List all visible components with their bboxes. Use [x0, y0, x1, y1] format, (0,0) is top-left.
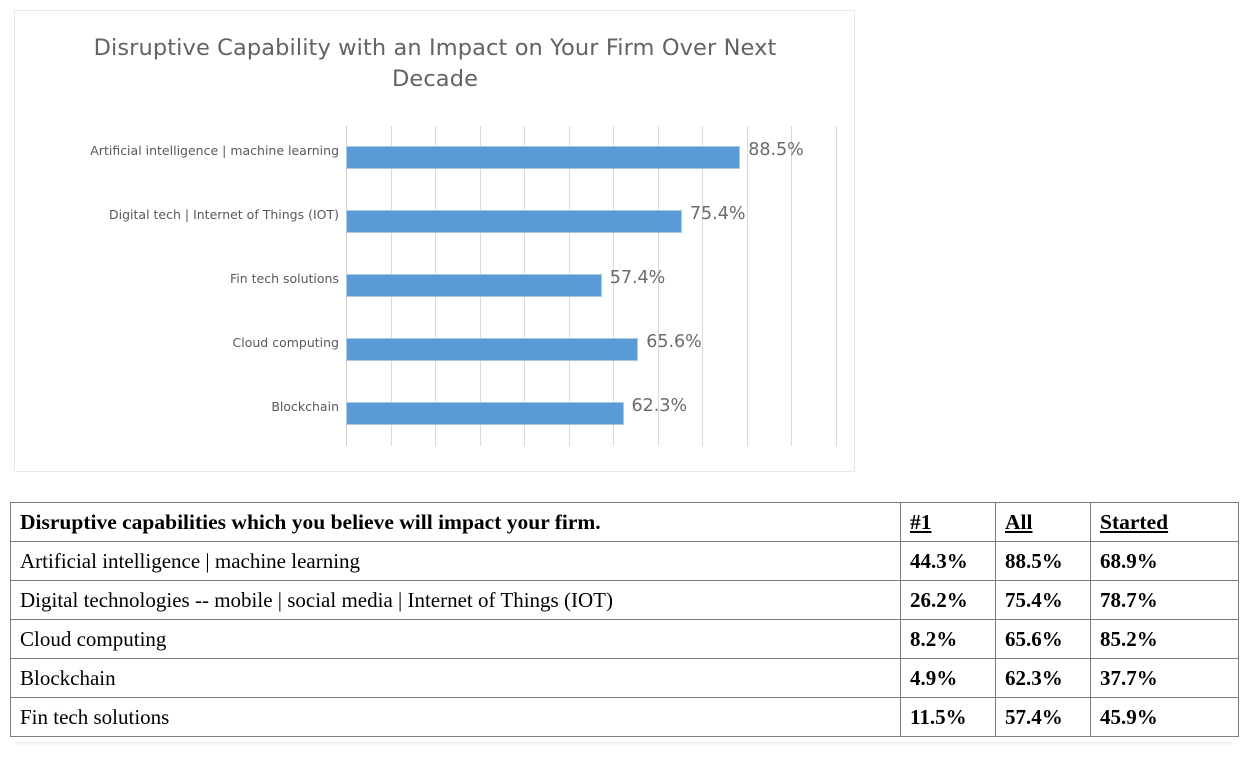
- chart-plot-area: Artificial intelligence | machine learni…: [346, 126, 836, 446]
- chart-card: Disruptive Capability with an Impact on …: [14, 10, 855, 472]
- chart-bar: [346, 338, 638, 361]
- table-row: Artificial intelligence | machine learni…: [11, 542, 1239, 581]
- table-header-row: Disruptive capabilities which you believ…: [11, 503, 1239, 542]
- cell-capability: Cloud computing: [11, 620, 901, 659]
- chart-category-row: Fin tech solutions57.4%: [346, 254, 836, 318]
- chart-category-label: Cloud computing: [233, 335, 339, 350]
- chart-category-label: Digital tech | Internet of Things (IOT): [109, 207, 339, 222]
- cell-all: 57.4%: [996, 698, 1091, 737]
- chart-category-row: Artificial intelligence | machine learni…: [346, 126, 836, 190]
- chart-gridline: [836, 126, 837, 446]
- chart-category-row: Digital tech | Internet of Things (IOT)7…: [346, 190, 836, 254]
- header-capability: Disruptive capabilities which you believ…: [11, 503, 901, 542]
- chart-bar-value-label: 65.6%: [646, 332, 702, 352]
- header-all: All: [996, 503, 1091, 542]
- chart-bar-value-label: 57.4%: [610, 268, 666, 288]
- header-started: Started: [1091, 503, 1239, 542]
- cell-all: 65.6%: [996, 620, 1091, 659]
- cell-rank-1: 11.5%: [901, 698, 996, 737]
- header-rank-1: #1: [901, 503, 996, 542]
- chart-bar: [346, 402, 624, 425]
- chart-category-label: Artificial intelligence | machine learni…: [90, 143, 339, 158]
- chart-bar-value-label: 75.4%: [690, 204, 746, 224]
- cell-capability: Artificial intelligence | machine learni…: [11, 542, 901, 581]
- chart-bar-value-label: 88.5%: [748, 140, 804, 160]
- table-row: Fin tech solutions11.5%57.4%45.9%: [11, 698, 1239, 737]
- chart-category-row: Blockchain62.3%: [346, 382, 836, 446]
- table-bottom-shadow: [16, 742, 1232, 747]
- chart-bar: [346, 210, 682, 233]
- cell-started: 78.7%: [1091, 581, 1239, 620]
- chart-title: Disruptive Capability with an Impact on …: [75, 33, 795, 95]
- cell-started: 85.2%: [1091, 620, 1239, 659]
- chart-bar-value-label: 62.3%: [632, 396, 688, 416]
- chart-bar: [346, 274, 602, 297]
- table-row: Cloud computing8.2%65.6%85.2%: [11, 620, 1239, 659]
- table-row: Digital technologies -- mobile | social …: [11, 581, 1239, 620]
- cell-rank-1: 26.2%: [901, 581, 996, 620]
- chart-bar: [346, 146, 740, 169]
- cell-started: 45.9%: [1091, 698, 1239, 737]
- cell-all: 75.4%: [996, 581, 1091, 620]
- cell-rank-1: 8.2%: [901, 620, 996, 659]
- disruptive-capabilities-table: Disruptive capabilities which you believ…: [10, 502, 1239, 737]
- cell-started: 68.9%: [1091, 542, 1239, 581]
- chart-category-row: Cloud computing65.6%: [346, 318, 836, 382]
- cell-capability: Fin tech solutions: [11, 698, 901, 737]
- table-row: Blockchain4.9%62.3%37.7%: [11, 659, 1239, 698]
- table-body: Artificial intelligence | machine learni…: [11, 542, 1239, 737]
- cell-all: 88.5%: [996, 542, 1091, 581]
- cell-capability: Digital technologies -- mobile | social …: [11, 581, 901, 620]
- cell-rank-1: 44.3%: [901, 542, 996, 581]
- cell-all: 62.3%: [996, 659, 1091, 698]
- chart-category-label: Blockchain: [271, 399, 339, 414]
- chart-category-label: Fin tech solutions: [230, 271, 339, 286]
- cell-started: 37.7%: [1091, 659, 1239, 698]
- cell-capability: Blockchain: [11, 659, 901, 698]
- cell-rank-1: 4.9%: [901, 659, 996, 698]
